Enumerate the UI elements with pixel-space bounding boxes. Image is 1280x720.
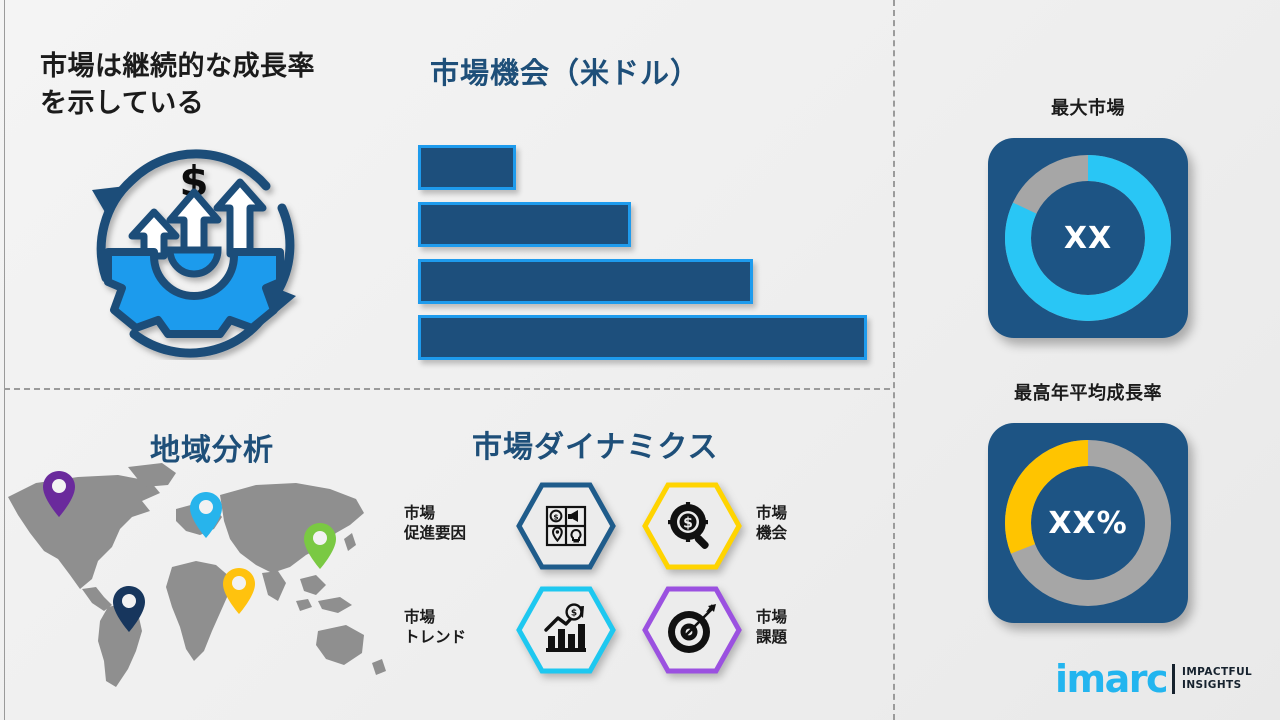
cagr-label: 最高年平均成長率 [935, 379, 1241, 405]
opportunity-title: 市場機会（米ドル） [430, 50, 860, 92]
trends-hexagon: $ [516, 586, 616, 670]
largest-market-donut-chart [988, 138, 1188, 338]
opportunity-bar-chart [418, 145, 888, 350]
largest-market-label: 最大市場 [955, 94, 1221, 120]
bar-row [418, 145, 516, 190]
cagr-donut-chart [988, 423, 1188, 623]
growth-cycle-gear-icon: $ [70, 128, 318, 360]
logo-tagline-line1: IMPACTFUL [1182, 666, 1252, 679]
opportunities-hexagon: $ [642, 482, 742, 566]
pin-north-america [42, 470, 76, 522]
pin-europe [189, 491, 223, 543]
logo-divider [1172, 664, 1175, 694]
market-dynamics-grid: 市場 促進要因 $ [404, 478, 874, 678]
pin-africa [222, 567, 256, 619]
dynamics-item-label: 市場 促進要因 [404, 504, 516, 544]
vertical-dashed-divider [893, 0, 895, 720]
horizontal-dashed-divider [4, 388, 890, 390]
bar-row [418, 259, 753, 304]
svg-text:$: $ [553, 513, 558, 522]
imarc-logo: imarc IMPACTFUL INSIGHTS [1055, 657, 1252, 701]
growth-title: 市場は継続的な成長率 を示している [40, 48, 385, 123]
dynamics-item-label: 市場 トレンド [404, 608, 516, 648]
cagr-donut-card: XX% [988, 423, 1188, 623]
logo-tagline-line2: INSIGHTS [1182, 679, 1252, 692]
dynamics-item-label: 市場 機会 [756, 504, 866, 544]
dynamics-item-label: 市場 課題 [756, 608, 866, 648]
svg-text:$: $ [571, 609, 577, 619]
challenges-hexagon [642, 586, 742, 670]
drivers-hexagon: $ [516, 482, 616, 566]
largest-market-donut-card: XX [988, 138, 1188, 338]
bar-row [418, 202, 631, 247]
pin-south-america [112, 585, 146, 637]
logo-tagline: IMPACTFUL INSIGHTS [1182, 666, 1252, 692]
dynamics-item-opportunities[interactable]: $ 市場 機会 [642, 478, 874, 570]
bar-row [418, 315, 867, 360]
pin-asia [303, 522, 337, 574]
dynamics-item-challenges[interactable]: 市場 課題 [642, 582, 874, 674]
logo-wordmark: imarc [1055, 660, 1167, 698]
slide-canvas: 市場は継続的な成長率 を示している $ [0, 0, 1280, 720]
svg-text:$: $ [683, 515, 693, 531]
dynamics-item-trends[interactable]: 市場 トレンド $ [404, 582, 636, 674]
market-dynamics-title: 市場ダイナミクス [472, 422, 719, 466]
world-map [0, 455, 400, 700]
dynamics-item-drivers[interactable]: 市場 促進要因 $ [404, 478, 636, 570]
